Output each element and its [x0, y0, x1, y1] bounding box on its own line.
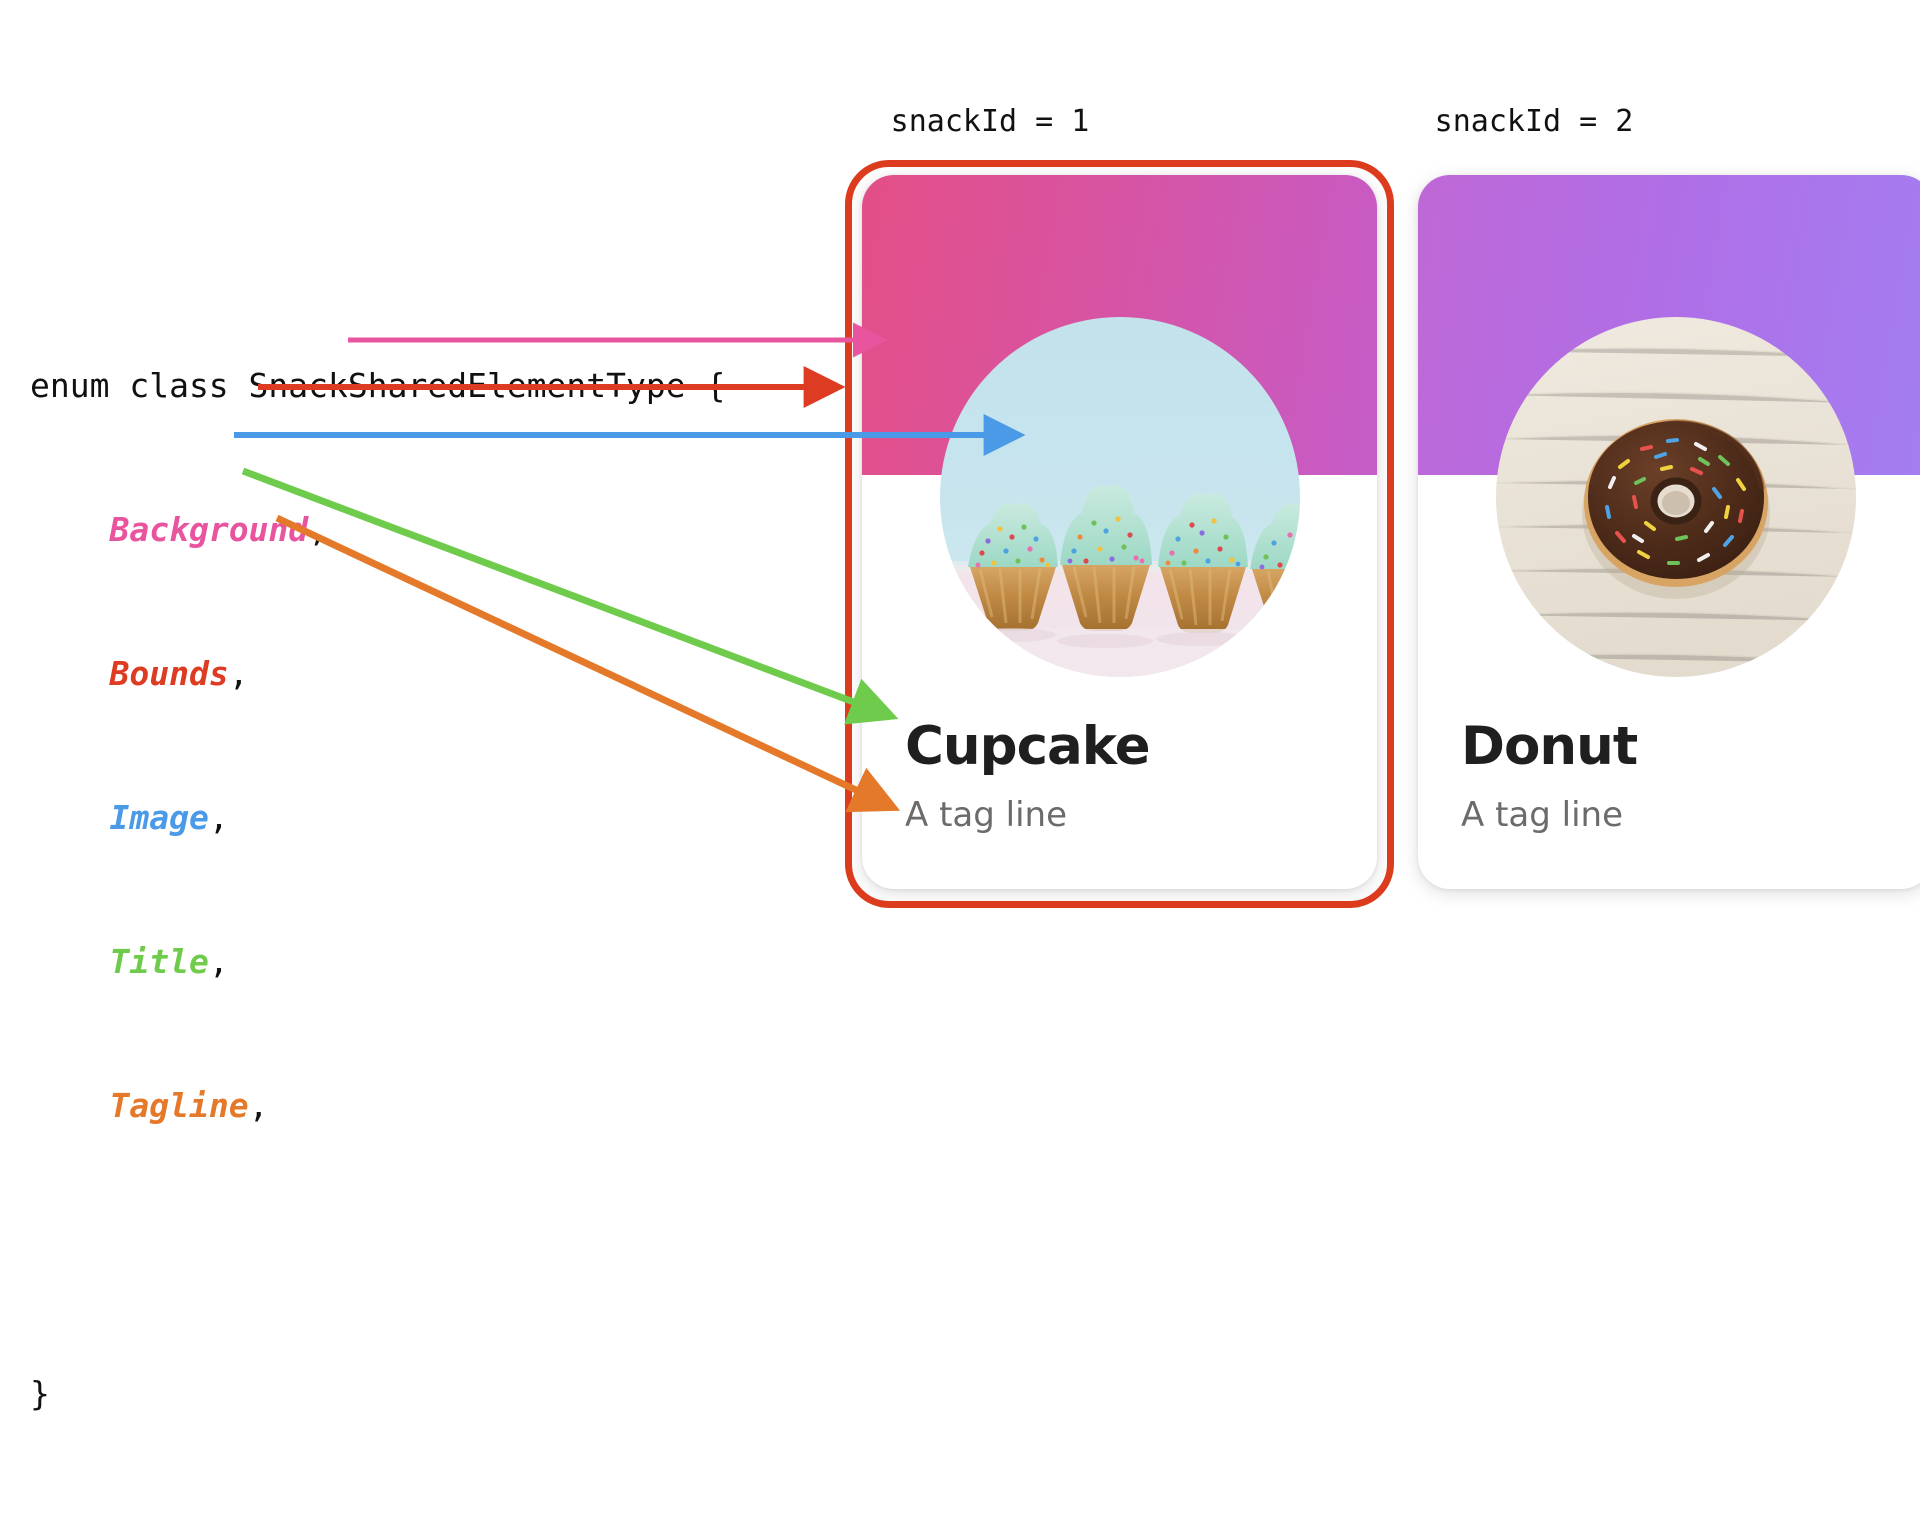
code-snippet: enum class SnackSharedElementType { Back… [30, 266, 725, 1514]
code-comma: , [209, 798, 229, 837]
enum-entry-image: Image [109, 798, 208, 837]
donut-photo [1496, 317, 1856, 677]
card-label-snack-2: snackId = 2 [1435, 104, 1634, 139]
enum-entry-background: Background [109, 510, 308, 549]
code-closing-brace: } [30, 1374, 50, 1413]
enum-entry-tagline: Tagline [109, 1086, 248, 1125]
card-label-snack-1: snackId = 1 [891, 104, 1090, 139]
code-comma: , [209, 942, 229, 981]
card-title-cupcake: Cupcake [905, 715, 1150, 779]
card-tagline-donut: A tag line [1461, 793, 1623, 837]
snack-card-cupcake[interactable]: Cupcake A tag line [862, 175, 1377, 889]
code-header: enum class SnackSharedElementType { [30, 366, 725, 405]
code-comma: , [229, 654, 249, 693]
card-tagline-cupcake: A tag line [905, 793, 1067, 837]
diagram-canvas: enum class SnackSharedElementType { Back… [0, 0, 1920, 1080]
card-title-donut: Donut [1461, 715, 1637, 779]
cupcakes-photo [940, 317, 1300, 677]
enum-entry-title: Title [109, 942, 208, 981]
enum-entry-bounds: Bounds [109, 654, 228, 693]
snack-card-donut[interactable]: Donut A tag line [1418, 175, 1920, 889]
code-comma: , [249, 1086, 269, 1125]
code-comma: , [308, 510, 328, 549]
